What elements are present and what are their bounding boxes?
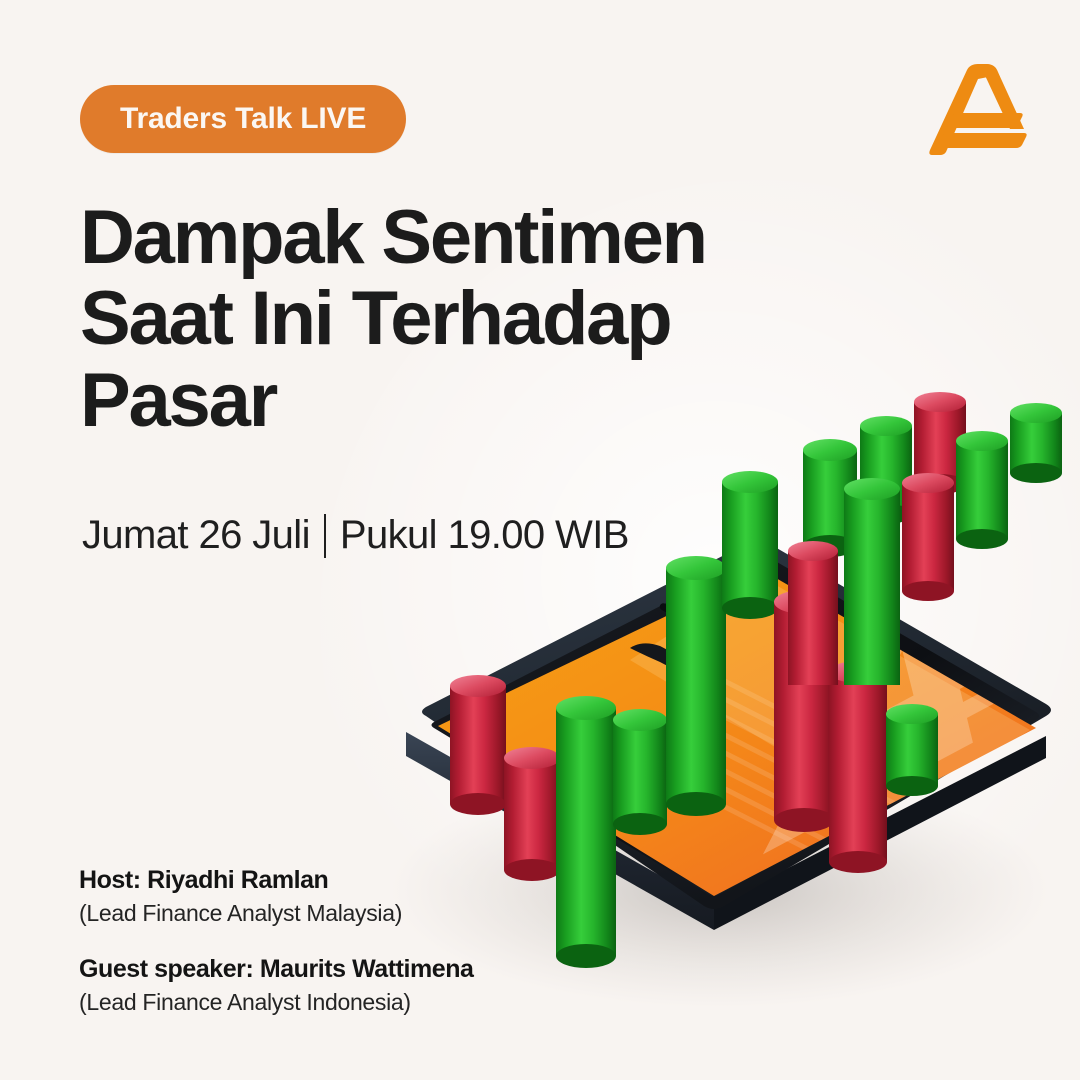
event-date: Jumat 26 Juli (82, 513, 310, 558)
candle-2 (504, 720, 560, 930)
candle-3 (556, 598, 616, 1032)
screen-highlight (630, 576, 1030, 816)
brand-a-logo (924, 57, 1032, 165)
candle-9 (886, 526, 938, 864)
headline-line-2: Saat Ini Terhadap (80, 278, 820, 359)
host-name: Host: Riyadhi Ramlan (79, 866, 474, 895)
candle-17 (1010, 359, 1062, 541)
credits-block: Host: Riyadhi Ramlan (Lead Finance Analy… (79, 866, 474, 1016)
candle-11 (860, 350, 912, 598)
phone-screen (438, 570, 1036, 896)
event-time: Pukul 19.00 WIB (340, 513, 629, 558)
event-datetime: Jumat 26 Juli Pukul 19.00 WIB (82, 513, 629, 558)
datetime-separator (324, 514, 326, 558)
candle-13 (788, 475, 838, 685)
screen-watermark (763, 547, 1033, 854)
page-title: Dampak Sentimen Saat Ini Terhadap Pasar (80, 197, 820, 441)
candle-12 (914, 334, 966, 550)
candle-7 (774, 422, 834, 924)
device-shadow (390, 772, 1050, 1008)
live-badge-label: Traders Talk LIVE (120, 102, 366, 136)
candle-14 (844, 429, 900, 685)
phone-body (422, 541, 1051, 910)
poster-canvas: Traders Talk LIVE Dampak Sentimen Saat I… (0, 0, 1080, 1080)
credit-host: Host: Riyadhi Ramlan (Lead Finance Analy… (79, 866, 474, 927)
phone-side-button (474, 762, 529, 799)
candle-16 (956, 383, 1008, 603)
candlestick-upper-cluster (780, 355, 1080, 685)
headline-line-1: Dampak Sentimen (80, 197, 820, 278)
candle-8 (829, 512, 887, 950)
screen-stripes (648, 666, 1080, 965)
phone-earpiece (659, 602, 718, 640)
phone-notch (630, 643, 706, 682)
credit-guest: Guest speaker: Maurits Wattimena (Lead F… (79, 955, 474, 1016)
guest-role: (Lead Finance Analyst Indonesia) (79, 989, 474, 1016)
live-badge[interactable]: Traders Talk LIVE (80, 85, 406, 153)
candle-5 (666, 470, 726, 890)
smartphone-device (406, 541, 1080, 966)
candle-6 (722, 390, 778, 770)
host-role: (Lead Finance Analyst Malaysia) (79, 900, 474, 927)
headline-line-3: Pasar (80, 360, 820, 441)
candle-1 (450, 630, 506, 850)
phone-side-right (714, 736, 1046, 930)
candle-4 (613, 614, 667, 886)
candle-15 (902, 419, 954, 651)
guest-name: Guest speaker: Maurits Wattimena (79, 955, 474, 984)
phone-bezel (432, 556, 1040, 896)
